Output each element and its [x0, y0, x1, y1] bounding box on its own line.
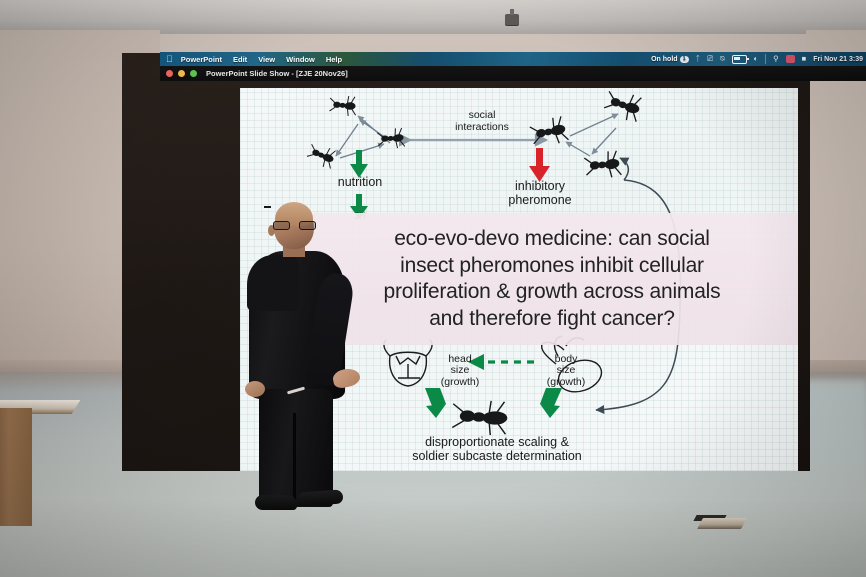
label-inhibitory-line2: pheromone [480, 194, 600, 207]
label-body-size-line3: (growth) [532, 377, 600, 389]
label-social-interactions-line2: interactions [422, 122, 542, 134]
battery-icon[interactable] [732, 55, 747, 64]
wifi-icon[interactable]: ◐ [754, 55, 759, 63]
screen-mirroring-icon[interactable]: ⎚ [707, 55, 713, 63]
apple-logo-icon[interactable]:  [166, 55, 173, 64]
right-wall [806, 30, 866, 390]
menu-item-edit[interactable]: Edit [233, 55, 247, 64]
menu-item-view[interactable]: View [258, 55, 275, 64]
label-bottom-line2: soldier subcaste determination [322, 450, 672, 463]
label-head-size-line2: size [430, 365, 490, 377]
presenter-shoulder [247, 255, 299, 311]
quote-line-2: insect pheromones inhibit cellular [400, 253, 704, 280]
quote-line-1: eco-evo-devo medicine: can social [394, 226, 710, 253]
quote-line-4: and therefore fight cancer? [429, 306, 675, 333]
window-title: PowerPoint Slide Show - [ZJE 20Nov26] [206, 69, 348, 78]
label-inhibitory-line1: inhibitory [480, 180, 600, 193]
presenter-shoe-left [255, 495, 297, 510]
status-on-hold[interactable]: On hold 1 [651, 56, 689, 63]
lecture-room-scene:  PowerPoint Edit View Window Help On ho… [0, 0, 866, 577]
presenter-leg-gap [293, 413, 296, 501]
presenter-shoe-right [297, 489, 344, 506]
presenter-legs [259, 389, 333, 507]
control-center-icon[interactable] [786, 55, 795, 63]
glasses-bridge [264, 206, 271, 208]
presenter-left-hand [245, 381, 265, 397]
bluetooth-icon[interactable]: ᛏ [696, 55, 701, 63]
presenter-person [245, 203, 350, 518]
label-head-size-line3: (growth) [426, 377, 494, 389]
on-hold-badge: 1 [680, 56, 689, 63]
quote-overlay-box: eco-evo-devo medicine: can social insect… [302, 213, 798, 345]
close-button[interactable] [166, 70, 173, 77]
glasses-icon [272, 221, 317, 230]
quote-line-3: proliferation & growth across animals [384, 279, 721, 306]
user-account-icon[interactable]: ■ [802, 55, 807, 63]
ceiling-mount-icon [505, 14, 519, 25]
on-hold-label: On hold [651, 56, 677, 63]
menu-item-window[interactable]: Window [286, 55, 315, 64]
menu-bar-status-area: On hold 1 ᛏ ⎚ ⍉ ◐ ⚲ ■ Fri Nov 21 3:39 [651, 54, 866, 64]
minimize-button[interactable] [178, 70, 185, 77]
ceiling [0, 0, 866, 34]
macos-menu-bar[interactable]:  PowerPoint Edit View Window Help On ho… [160, 52, 866, 66]
status-divider [765, 54, 766, 64]
zoom-button[interactable] [190, 70, 197, 77]
display-icon[interactable]: ⍉ [720, 55, 725, 63]
menu-item-powerpoint[interactable]: PowerPoint [181, 55, 222, 64]
podium [0, 408, 32, 526]
window-traffic-lights [166, 70, 197, 77]
label-social-interactions-line1: social [422, 110, 542, 122]
search-icon[interactable]: ⚲ [773, 55, 779, 63]
label-body-size-line2: size [536, 365, 596, 377]
object-on-floor [697, 518, 747, 529]
label-bottom-line1: disproportionate scaling & [322, 436, 672, 449]
menu-bar-clock[interactable]: Fri Nov 21 3:39 [813, 56, 863, 63]
menu-item-help[interactable]: Help [326, 55, 342, 64]
label-nutrition: nutrition [302, 176, 418, 189]
window-title-bar: PowerPoint Slide Show - [ZJE 20Nov26] [160, 66, 866, 81]
